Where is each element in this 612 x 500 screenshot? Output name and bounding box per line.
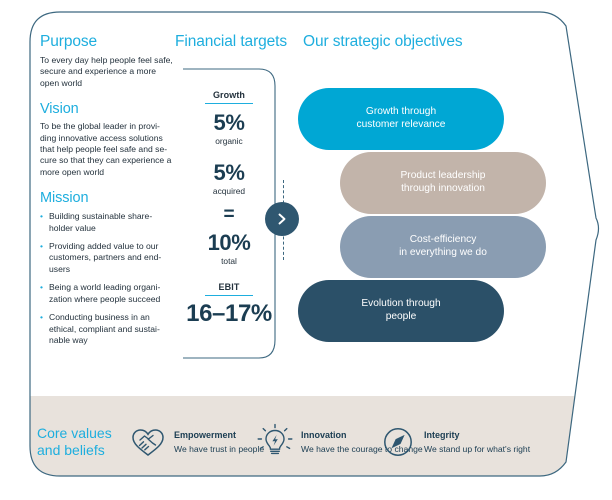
objective-pill-label: Cost-efficiencyin everything we do [399, 234, 487, 259]
objectives-heading: Our strategic objectives [303, 33, 463, 51]
total-sub: total [183, 256, 275, 266]
chevron-right-icon[interactable] [265, 202, 299, 236]
equals-sign: = [183, 205, 275, 225]
mission-list-item: Being a world leading organi-zation wher… [40, 282, 175, 305]
purpose-heading: Purpose [40, 33, 175, 51]
core-value-title: Integrity [424, 430, 460, 440]
core-value-desc: We stand up for what's right [424, 444, 530, 455]
growth-label: Growth [183, 90, 275, 100]
growth-organic-value: 5% [183, 110, 275, 136]
growth-acquired-sub: acquired [183, 186, 275, 196]
growth-organic-sub: organic [183, 136, 275, 146]
core-value-title: Innovation [301, 430, 347, 440]
objective-pill-product-leadership[interactable]: Product leadershipthrough innovation [340, 152, 546, 214]
purpose-body: To every day help people feel safe, secu… [40, 55, 175, 89]
ebit-label: EBIT [183, 282, 275, 292]
lightbulb-bolt-icon [255, 422, 295, 462]
financial-figures: Growth 5% organic 5% acquired = 10% tota… [183, 68, 275, 327]
core-value-text: Integrity We stand up for what's right [424, 422, 530, 454]
core-value-desc: We have trust in people [174, 444, 264, 455]
mission-list-item: Conducting business in an ethical, compl… [40, 312, 175, 346]
handshake-heart-icon [128, 422, 168, 462]
core-value-empowerment: Empowerment We have trust in people [128, 422, 264, 462]
objective-pill-label: Growth throughcustomer relevance [357, 106, 446, 131]
core-value-text: Empowerment We have trust in people [174, 422, 264, 454]
growth-underline [205, 103, 253, 105]
objective-pill-label: Evolution throughpeople [361, 298, 440, 323]
left-column: Purpose To every day help people feel sa… [40, 33, 175, 353]
vision-body: To be the global leader in provi-ding in… [40, 121, 175, 178]
vision-heading: Vision [40, 101, 175, 117]
total-value: 10% [183, 230, 275, 256]
core-value-integrity: Integrity We stand up for what's right [378, 422, 530, 462]
mission-list-item: Building sustainable share-holder value [40, 211, 175, 234]
core-value-title: Empowerment [174, 430, 236, 440]
mission-list-item: Providing added value to our customers, … [40, 241, 175, 275]
objective-pill-label: Product leadershipthrough innovation [401, 170, 486, 195]
compass-icon [378, 422, 418, 462]
growth-acquired-value: 5% [183, 160, 275, 186]
core-values-heading: Core valuesand beliefs [37, 425, 112, 459]
financial-targets-heading: Financial targets [175, 33, 287, 51]
ebit-underline [205, 295, 253, 297]
objective-pill-evolution[interactable]: Evolution throughpeople [298, 280, 504, 342]
objective-pill-cost-efficiency[interactable]: Cost-efficiencyin everything we do [340, 216, 546, 278]
mission-heading: Mission [40, 190, 175, 206]
objective-pill-growth[interactable]: Growth throughcustomer relevance [298, 88, 504, 150]
financial-targets-panel: Growth 5% organic 5% acquired = 10% tota… [183, 68, 275, 358]
ebit-value: 16–17% [183, 301, 275, 327]
mission-list: Building sustainable share-holder valueP… [40, 211, 175, 346]
infographic-root: Purpose To every day help people feel sa… [0, 0, 612, 500]
